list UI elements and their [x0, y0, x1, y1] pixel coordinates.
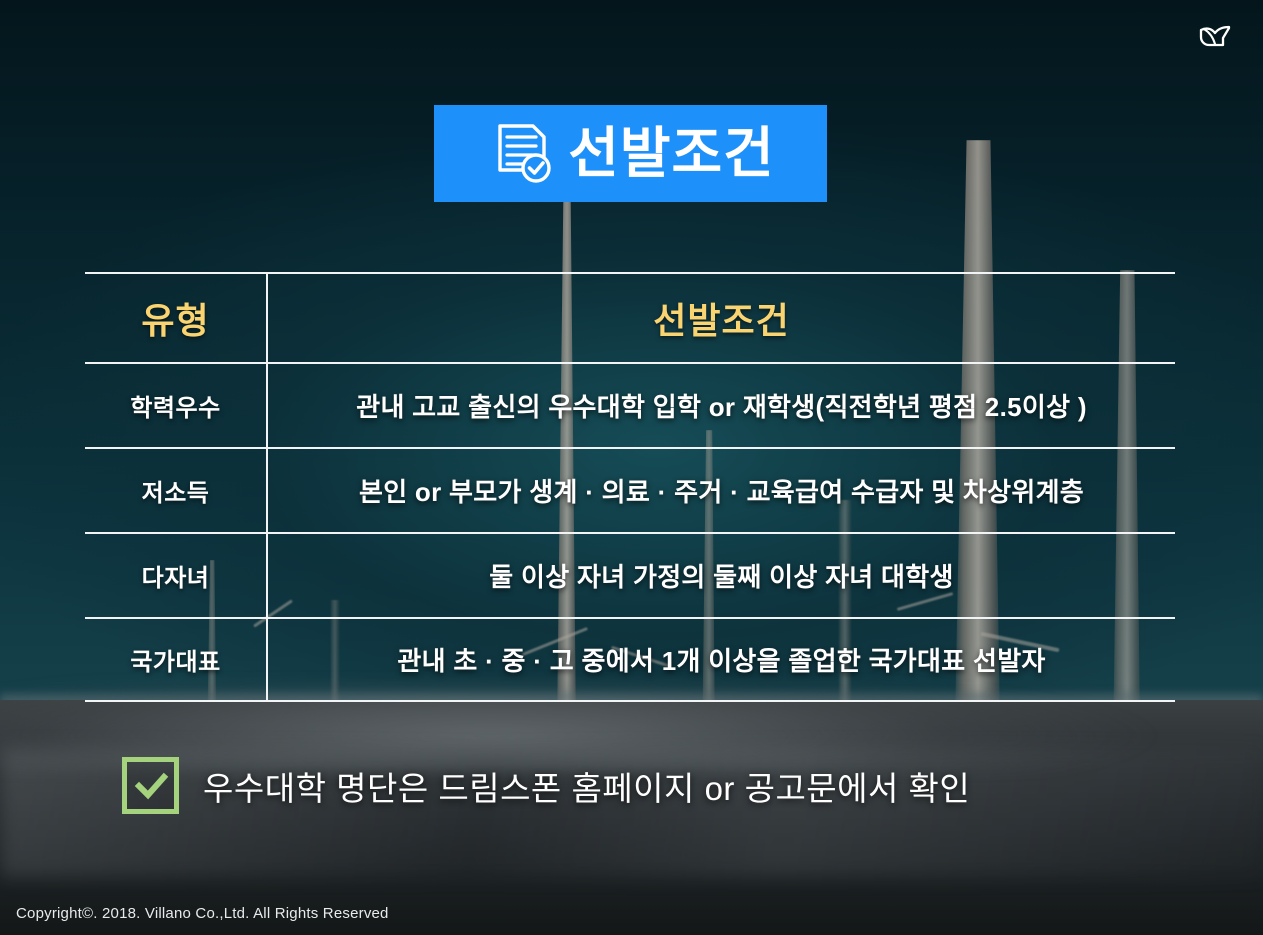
cell-condition: 본인 or 부모가 생계 · 의료 · 주거 · 교육급여 수급자 및 차상위계… — [268, 449, 1175, 532]
slide-canvas: 선발조건 유형 선발조건 학력우수 관내 고교 출신의 우수대학 입학 or 재… — [0, 0, 1263, 935]
column-header-condition: 선발조건 — [268, 274, 1175, 362]
cell-type: 저소득 — [85, 449, 268, 532]
footnote-text: 우수대학 명단은 드림스폰 홈페이지 or 공고문에서 확인 — [203, 762, 970, 810]
cell-condition: 둘 이상 자녀 가정의 둘째 이상 자녀 대학생 — [268, 534, 1175, 617]
cell-condition: 관내 고교 출신의 우수대학 입학 or 재학생(직전학년 평점 2.5이상 ) — [268, 364, 1175, 447]
villano-bird-logo-icon — [1193, 14, 1239, 60]
document-check-icon — [492, 122, 554, 186]
table-row: 학력우수 관내 고교 출신의 우수대학 입학 or 재학생(직전학년 평점 2.… — [85, 362, 1175, 447]
cell-condition: 관내 초 · 중 · 고 중에서 1개 이상을 졸업한 국가대표 선발자 — [268, 619, 1175, 700]
selection-criteria-table: 유형 선발조건 학력우수 관내 고교 출신의 우수대학 입학 or 재학생(직전… — [85, 272, 1175, 702]
column-header-type: 유형 — [85, 274, 268, 362]
table-header-row: 유형 선발조건 — [85, 272, 1175, 362]
cell-type: 다자녀 — [85, 534, 268, 617]
cell-type: 국가대표 — [85, 619, 268, 700]
table-row: 국가대표 관내 초 · 중 · 고 중에서 1개 이상을 졸업한 국가대표 선발… — [85, 617, 1175, 702]
table-row: 다자녀 둘 이상 자녀 가정의 둘째 이상 자녀 대학생 — [85, 532, 1175, 617]
copyright-text: Copyright©. 2018. Villano Co.,Ltd. All R… — [16, 905, 389, 922]
cell-type: 학력우수 — [85, 364, 268, 447]
checkbox-checked-icon — [122, 757, 179, 814]
slide-title-badge: 선발조건 — [434, 105, 827, 202]
page-title: 선발조건 — [568, 126, 774, 181]
footnote: 우수대학 명단은 드림스폰 홈페이지 or 공고문에서 확인 — [122, 757, 970, 814]
table-row: 저소득 본인 or 부모가 생계 · 의료 · 주거 · 교육급여 수급자 및 … — [85, 447, 1175, 532]
background-ground — [0, 700, 1263, 935]
